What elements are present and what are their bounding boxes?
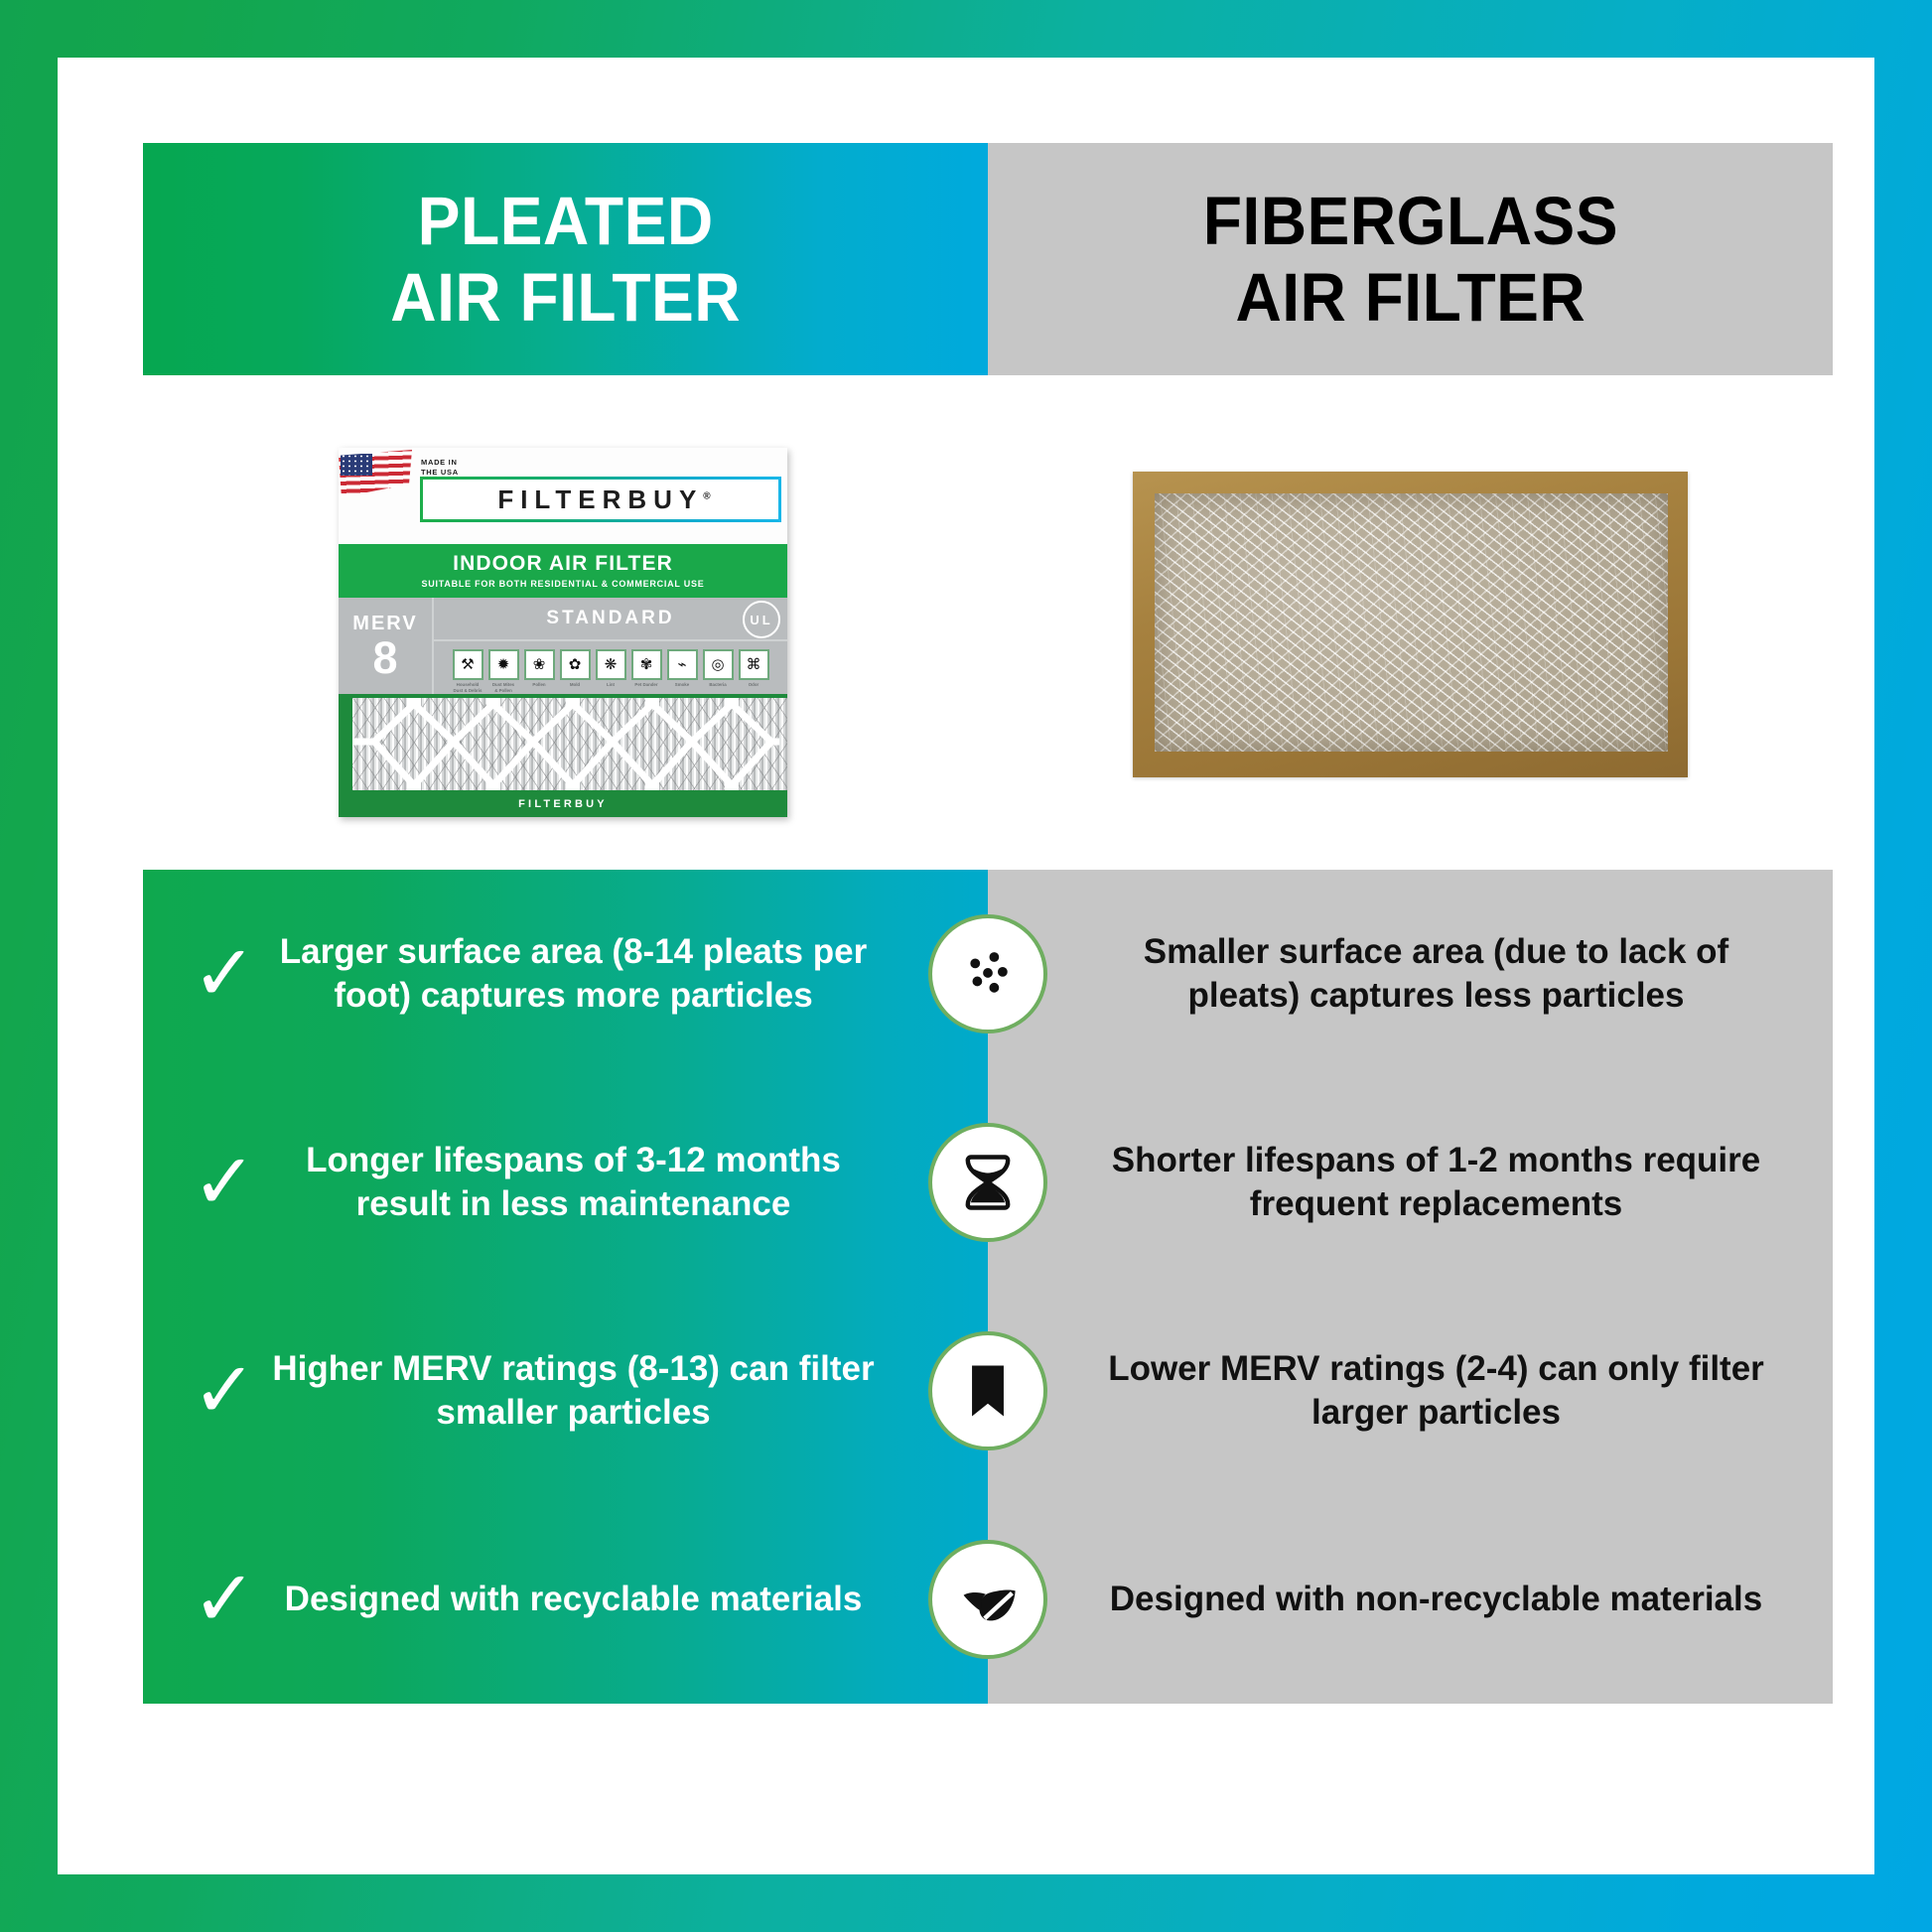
feature-fiberglass-text: Lower MERV ratings (2-4) can only filter… xyxy=(988,1347,1833,1435)
ul-certification-icon: UL xyxy=(743,601,780,638)
check-icon: ✓ xyxy=(179,1156,270,1210)
feature-pleated-text: Longer lifespans of 3-12 months result i… xyxy=(270,1139,988,1226)
filterbuy-logo-frame: FILTERBUY® xyxy=(420,477,781,522)
bookmark-icon xyxy=(928,1331,1047,1450)
mold-icon-glyph: ✿ xyxy=(560,649,591,680)
header-fiberglass: FIBERGLASS AIR FILTER xyxy=(988,143,1833,375)
dust-lint-icon-caption: Household Dust & Debris xyxy=(453,682,483,693)
check-icon: ✓ xyxy=(179,1573,270,1627)
mold-icon: ✿Mold xyxy=(560,649,591,688)
usa-flag-icon xyxy=(339,450,412,497)
comparison-headers: PLEATED AIR FILTER FIBERGLASS AIR FILTER xyxy=(143,143,1833,375)
feature-row: ✓Larger surface area (8-14 pleats per fo… xyxy=(143,870,1833,1078)
pollen-icon: ❀Pollen xyxy=(524,649,555,688)
dust-mites-icon: ✹Dust Mites & Pollen xyxy=(488,649,519,693)
merv-block: MERV 8 xyxy=(339,598,434,694)
feature-pleated-side: ✓Larger surface area (8-14 pleats per fo… xyxy=(143,870,988,1078)
infographic-page: PLEATED AIR FILTER FIBERGLASS AIR FILTER… xyxy=(0,0,1932,1932)
feature-pleated-side: ✓Higher MERV ratings (8-13) can filter s… xyxy=(143,1287,988,1495)
box-grade-and-icons: STANDARD UL ⚒Household Dust & Debris✹Dus… xyxy=(434,598,787,694)
dust-lint-icon: ⚒Household Dust & Debris xyxy=(453,649,483,693)
particles-icon xyxy=(928,914,1047,1034)
feature-fiberglass-side: Lower MERV ratings (2-4) can only filter… xyxy=(988,1287,1833,1495)
bacteria-icon-caption: Bacteria xyxy=(703,682,734,688)
leaf-icon xyxy=(928,1540,1047,1659)
smoke-icon: ⌁Smoke xyxy=(667,649,698,688)
pleated-filter-media: FILTERBUY xyxy=(339,694,787,817)
white-card: PLEATED AIR FILTER FIBERGLASS AIR FILTER… xyxy=(58,58,1874,1874)
smoke-icon-glyph: ⌁ xyxy=(667,649,698,680)
dust-mites-icon-glyph: ✹ xyxy=(488,649,519,680)
pet-dander-icon: ✾Pet Dander xyxy=(631,649,662,688)
indoor-air-filter-band: INDOOR AIR FILTER SUITABLE FOR BOTH RESI… xyxy=(339,544,787,598)
pleat-support-wire xyxy=(352,698,779,790)
header-pleated: PLEATED AIR FILTER xyxy=(143,143,988,375)
feature-pleated-text: Designed with recyclable materials xyxy=(270,1578,988,1621)
feature-fiberglass-side: Designed with non-recyclable materials xyxy=(988,1495,1833,1704)
header-pleated-label: PLEATED AIR FILTER xyxy=(390,183,741,337)
suitable-for-label: SUITABLE FOR BOTH RESIDENTIAL & COMMERCI… xyxy=(339,579,787,589)
captured-particles-icon-row: ⚒Household Dust & Debris✹Dust Mites & Po… xyxy=(434,641,787,694)
feature-row: ✓Higher MERV ratings (8-13) can filter s… xyxy=(143,1287,1833,1495)
feature-fiberglass-side: Smaller surface area (due to lack of ple… xyxy=(988,870,1833,1078)
feature-pleated-text: Larger surface area (8-14 pleats per foo… xyxy=(270,930,988,1018)
odor-icon: ⌘Odor xyxy=(739,649,769,688)
pollen-icon-glyph: ❀ xyxy=(524,649,555,680)
pet-dander-icon-glyph: ✾ xyxy=(631,649,662,680)
lint-icon-caption: Lint xyxy=(596,682,626,688)
header-fiberglass-label: FIBERGLASS AIR FILTER xyxy=(1202,183,1617,337)
feature-pleated-side: ✓Longer lifespans of 3-12 months result … xyxy=(143,1078,988,1287)
feature-pleated-side: ✓Designed with recyclable materials xyxy=(143,1495,988,1704)
box-top-section: MADE IN THE USA FILTERBUY® xyxy=(339,448,787,544)
feature-row: ✓Designed with recyclable materialsDesig… xyxy=(143,1495,1833,1704)
feature-comparison-list: ✓Larger surface area (8-14 pleats per fo… xyxy=(143,870,1833,1704)
product-images-row: MADE IN THE USA FILTERBUY® INDOOR AIR FI… xyxy=(143,375,1833,872)
box-spec-section: MERV 8 STANDARD UL ⚒Household Dust & Deb… xyxy=(339,598,787,694)
mold-icon-caption: Mold xyxy=(560,682,591,688)
filterbuy-logo-text: FILTERBUY® xyxy=(490,484,710,515)
hourglass-icon xyxy=(928,1123,1047,1242)
check-icon: ✓ xyxy=(179,1364,270,1419)
feature-pleated-text: Higher MERV ratings (8-13) can filter sm… xyxy=(270,1347,988,1435)
bacteria-icon-glyph: ◎ xyxy=(703,649,734,680)
lint-icon-glyph: ❋ xyxy=(596,649,626,680)
indoor-air-filter-label: INDOOR AIR FILTER xyxy=(339,552,787,576)
lint-icon: ❋Lint xyxy=(596,649,626,688)
pet-dander-icon-caption: Pet Dander xyxy=(631,682,662,688)
check-icon: ✓ xyxy=(179,947,270,1002)
filter-media-brand-label: FILTERBUY xyxy=(339,798,787,810)
pleated-product-cell: MADE IN THE USA FILTERBUY® INDOOR AIR FI… xyxy=(143,375,988,872)
feature-row: ✓Longer lifespans of 3-12 months result … xyxy=(143,1078,1833,1287)
odor-icon-glyph: ⌘ xyxy=(739,649,769,680)
grade-label: STANDARD xyxy=(546,608,674,629)
dust-lint-icon-glyph: ⚒ xyxy=(453,649,483,680)
feature-fiberglass-side: Shorter lifespans of 1-2 months require … xyxy=(988,1078,1833,1287)
smoke-icon-caption: Smoke xyxy=(667,682,698,688)
dust-mites-icon-caption: Dust Mites & Pollen xyxy=(488,682,519,693)
pollen-icon-caption: Pollen xyxy=(524,682,555,688)
fiberglass-filter-photo xyxy=(1133,472,1688,777)
fiberglass-media-texture xyxy=(1155,493,1668,752)
made-in-usa-label: MADE IN THE USA xyxy=(421,458,459,478)
feature-fiberglass-text: Smaller surface area (due to lack of ple… xyxy=(988,930,1833,1018)
feature-fiberglass-text: Shorter lifespans of 1-2 months require … xyxy=(988,1139,1833,1226)
feature-fiberglass-text: Designed with non-recyclable materials xyxy=(988,1578,1833,1621)
fiberglass-product-cell xyxy=(988,375,1833,872)
filterbuy-product-box: MADE IN THE USA FILTERBUY® INDOOR AIR FI… xyxy=(339,448,787,817)
grade-row: STANDARD UL xyxy=(434,598,787,641)
odor-icon-caption: Odor xyxy=(739,682,769,688)
merv-value: 8 xyxy=(372,637,397,680)
bacteria-icon: ◎Bacteria xyxy=(703,649,734,688)
